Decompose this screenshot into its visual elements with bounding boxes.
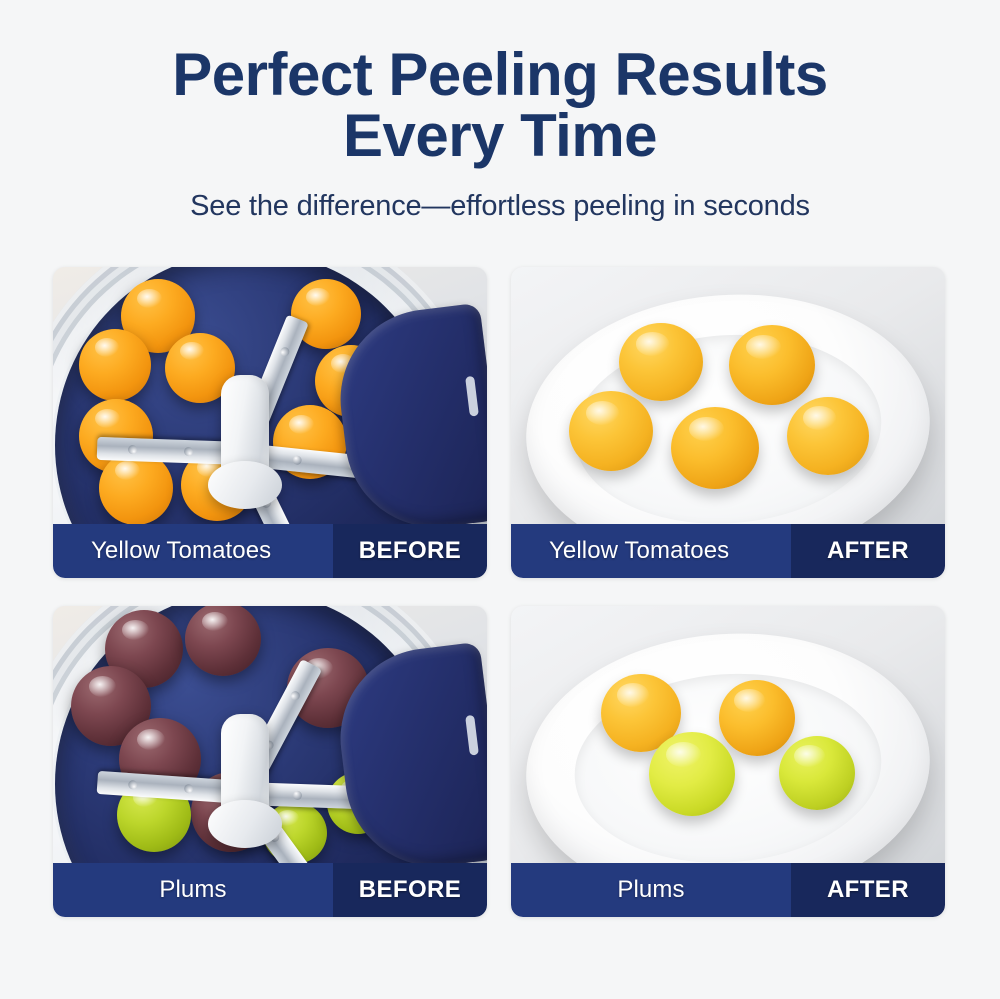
comparison-card-plums-before[interactable]: Plums BEFORE [53, 606, 487, 917]
fruit-peeled-plum [649, 732, 735, 816]
blade-rivet [128, 780, 138, 790]
white-center-hub [221, 714, 269, 832]
blade-rivet [128, 445, 137, 454]
card-label-name: Plums [511, 863, 791, 917]
page-title: Perfect Peeling Results Every Time [0, 44, 1000, 166]
card-label-name: Yellow Tomatoes [511, 524, 791, 578]
fruit-peeled-tomato [671, 407, 759, 489]
fruit-tomato [79, 329, 151, 401]
card-label-state: AFTER [791, 863, 945, 917]
fruit-peeled-tomato [569, 391, 653, 471]
white-center-hub [221, 375, 269, 493]
card-label-state: BEFORE [333, 863, 487, 917]
card-label-bar: Yellow Tomatoes BEFORE [53, 524, 487, 578]
fruit-peeled-tomato [729, 325, 815, 405]
blade-rivet [292, 455, 302, 465]
blade-rivet [184, 784, 194, 794]
comparison-card-plums-after[interactable]: Plums AFTER [511, 606, 945, 917]
blade-rivet [289, 690, 301, 702]
card-label-bar: Yellow Tomatoes AFTER [511, 524, 945, 578]
card-label-state: AFTER [791, 524, 945, 578]
card-label-bar: Plums BEFORE [53, 863, 487, 917]
header: Perfect Peeling Results Every Time See t… [0, 0, 1000, 223]
card-label-name: Plums [53, 863, 333, 917]
comparison-card-yellow-tomatoes-before[interactable]: Yellow Tomatoes BEFORE [53, 267, 487, 578]
fruit-peeled-tomato [787, 397, 869, 475]
fruit-peeled-plum [779, 736, 855, 810]
fruit-peeled-tomato [619, 323, 703, 401]
page-subtitle: See the difference—effortless peeling in… [0, 190, 1000, 223]
fruit-peeled-plum [719, 680, 795, 756]
comparison-card-yellow-tomatoes-after[interactable]: Yellow Tomatoes AFTER [511, 267, 945, 578]
blade-rivet [279, 346, 291, 358]
comparison-grid: Yellow Tomatoes BEFORE Yellow Tomatoes A… [53, 267, 945, 917]
card-label-state: BEFORE [333, 524, 487, 578]
promo-comparison-page: Perfect Peeling Results Every Time See t… [0, 0, 1000, 999]
card-label-name: Yellow Tomatoes [53, 524, 333, 578]
blade-rivet [184, 447, 193, 456]
card-label-bar: Plums AFTER [511, 863, 945, 917]
blade-rivet [293, 791, 302, 800]
